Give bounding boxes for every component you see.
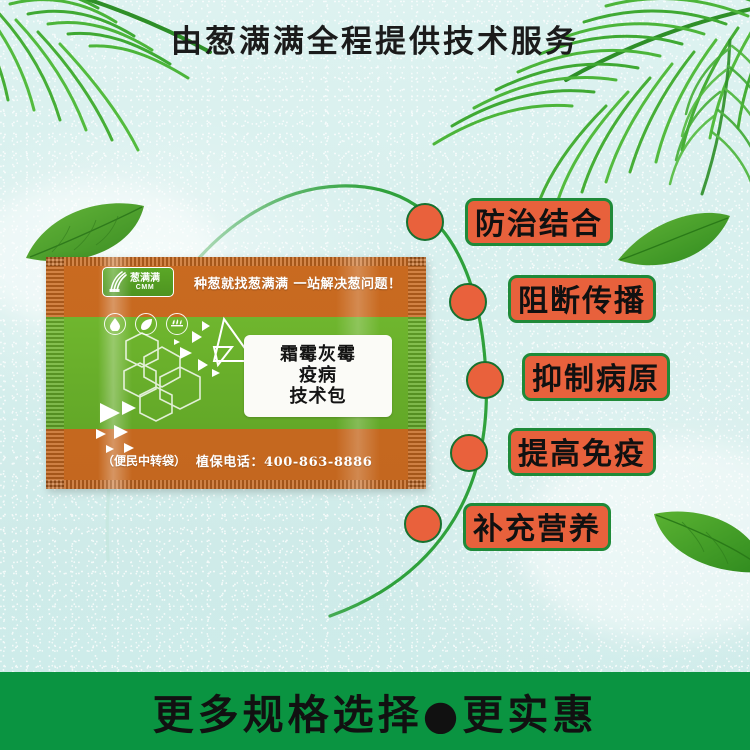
leaf-right-upper-icon bbox=[614, 206, 734, 276]
water-drop-icon bbox=[104, 313, 126, 335]
header-band: 由葱满满全程提供技术服务 bbox=[0, 0, 750, 92]
benefit-dot-2 bbox=[449, 283, 487, 321]
product-line-3: 技术包 bbox=[290, 387, 347, 407]
benefit-label-1[interactable]: 防治结合 bbox=[465, 198, 613, 246]
packet-feature-icons bbox=[104, 313, 188, 335]
benefit-label-2[interactable]: 阻断传播 bbox=[508, 275, 656, 323]
product-packet[interactable]: 葱满满 CMM 种葱就找葱满满 一站解决葱问题！ bbox=[46, 257, 426, 489]
benefit-dot-4 bbox=[450, 434, 488, 472]
packet-footer: （便民中转袋） 植保电话：400-863-8886 bbox=[46, 447, 426, 473]
benefit-dot-3 bbox=[466, 361, 504, 399]
benefit-label-4[interactable]: 提高免疫 bbox=[508, 428, 656, 476]
packet-bottom-serration bbox=[46, 480, 426, 489]
page-title: 由葱满满全程提供技术服务 bbox=[0, 16, 750, 61]
benefit-label-5[interactable]: 补充营养 bbox=[463, 503, 611, 551]
packet-top-serration bbox=[46, 257, 426, 266]
packet-footer-phone: 植保电话：400-863-8886 bbox=[196, 451, 372, 470]
benefit-label-1-text: 防治结合 bbox=[475, 199, 603, 243]
benefit-label-3-text: 抑制病原 bbox=[532, 354, 660, 398]
benefit-dot-5 bbox=[404, 505, 442, 543]
benefit-label-4-text: 提高免疫 bbox=[518, 429, 646, 473]
brand-name-cn: 葱满满 bbox=[130, 274, 160, 284]
brand-logo: 葱满满 CMM bbox=[102, 267, 174, 297]
leaf-icon bbox=[135, 313, 157, 335]
packet-tagline: 种葱就找葱满满 一站解决葱问题！ bbox=[194, 273, 402, 292]
benefit-label-5-text: 补充营养 bbox=[473, 504, 601, 548]
packet-body: 葱满满 CMM 种葱就找葱满满 一站解决葱问题！ bbox=[46, 257, 426, 489]
benefit-label-2-text: 阻断传播 bbox=[518, 276, 646, 320]
product-line-1: 霜霉灰霉 bbox=[280, 345, 356, 365]
product-line-2: 疫病 bbox=[299, 366, 337, 386]
poster-canvas: 由葱满满全程提供技术服务 防治结合 阻断传播 抑制病原 提高免疫 补充营养 bbox=[0, 0, 750, 750]
footer-banner-text: 更多规格选择●更实惠 bbox=[153, 681, 598, 741]
sprout-icon bbox=[166, 313, 188, 335]
scallion-icon bbox=[107, 271, 127, 293]
brand-name-en: CMM bbox=[136, 284, 155, 291]
product-name-plate: 霜霉灰霉 疫病 技术包 bbox=[244, 335, 392, 417]
benefit-dot-1 bbox=[406, 203, 444, 241]
packet-footer-left: （便民中转袋） bbox=[102, 452, 186, 469]
brand-text: 葱满满 CMM bbox=[130, 274, 160, 291]
footer-banner: 更多规格选择●更实惠 bbox=[0, 672, 750, 750]
benefit-label-3[interactable]: 抑制病原 bbox=[522, 353, 670, 401]
leaf-right-lower-icon bbox=[648, 498, 750, 578]
